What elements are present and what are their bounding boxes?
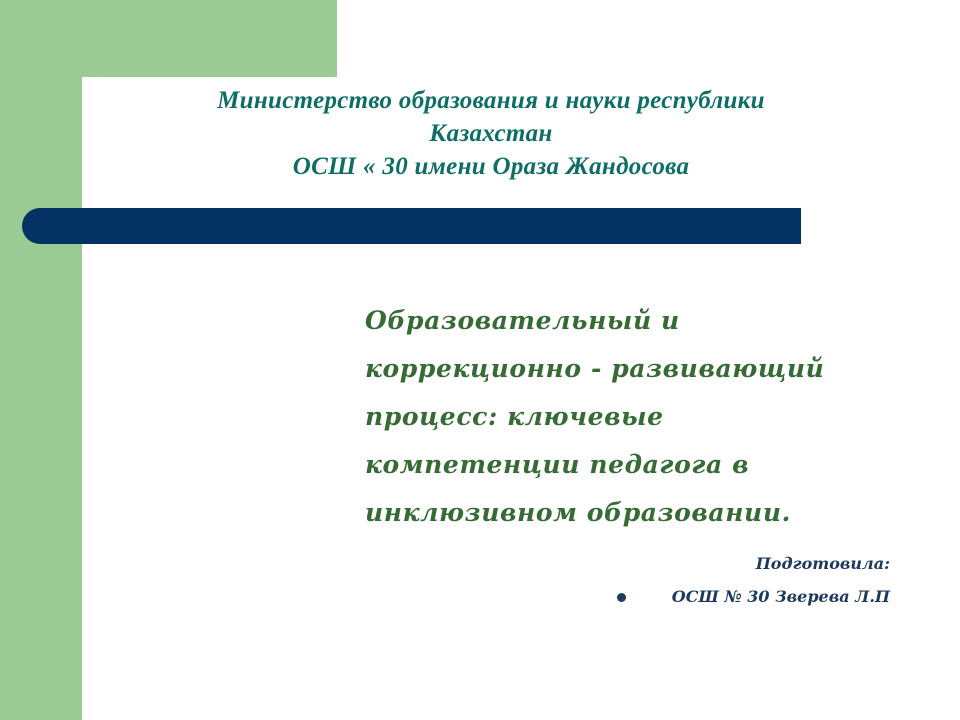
- green-left-sidebar-decoration: [0, 0, 82, 720]
- body-line-1: Образовательный и: [365, 297, 885, 345]
- presentation-slide: Министерство образования и науки республ…: [0, 0, 960, 720]
- title-line-1: Министерство образования и науки республ…: [96, 84, 886, 117]
- prepared-by-label: Подготовила:: [560, 552, 892, 576]
- title-line-2: Казахстан: [96, 117, 886, 150]
- author-list-item: ОСШ № 30 Зверева Л.П: [560, 586, 892, 608]
- author-name-text: ОСШ № 30 Зверева Л.П: [672, 586, 892, 608]
- body-line-2: коррекционно - развивающий: [365, 345, 885, 393]
- bullet-dot-icon: [617, 593, 626, 602]
- title-line-3: ОСШ « 30 имени Ораза Жандосова: [96, 150, 886, 183]
- navy-divider-bar: [22, 208, 801, 244]
- slide-title: Министерство образования и науки республ…: [96, 84, 886, 183]
- body-line-4: компетенции педагога в: [365, 441, 885, 489]
- body-line-5: инклюзивном образовании.: [365, 489, 885, 537]
- slide-body-text: Образовательный и коррекционно - развива…: [365, 297, 885, 537]
- body-line-3: процесс: ключевые: [365, 393, 885, 441]
- author-credit-block: Подготовила: ОСШ № 30 Зверева Л.П: [560, 552, 892, 608]
